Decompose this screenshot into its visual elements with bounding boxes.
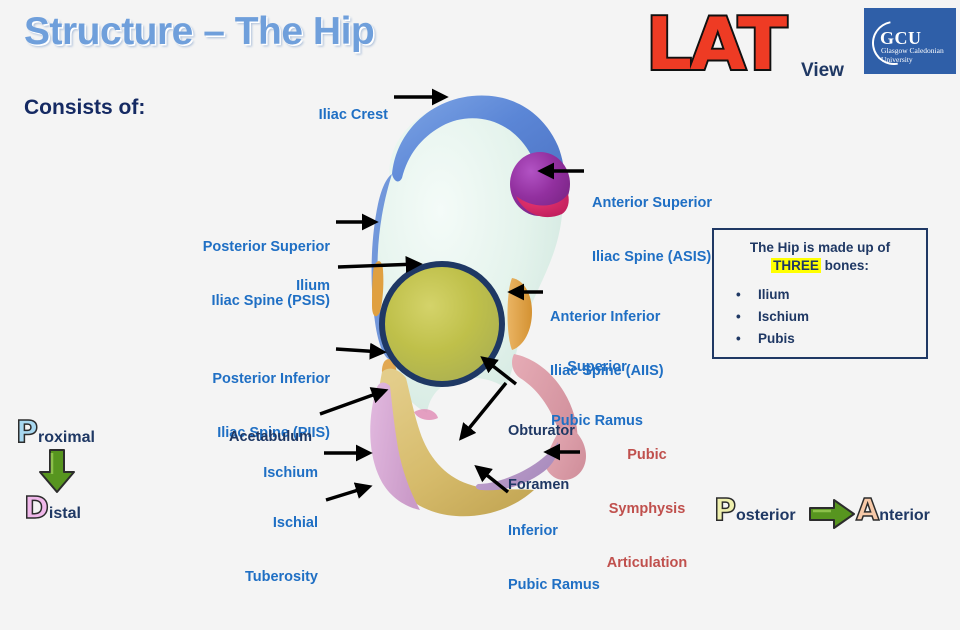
label-spr-line1: Superior bbox=[522, 358, 672, 376]
label-ischial-tuberosity: Ischial Tuberosity bbox=[180, 478, 318, 622]
label-iliac-crest: Iliac Crest bbox=[238, 88, 388, 142]
proximal-initial: P bbox=[16, 415, 38, 450]
label-ilium: Ilium bbox=[230, 259, 330, 313]
label-psis-line1: Posterior Superior bbox=[150, 238, 330, 256]
gcu-logo: GCU Glasgow Caledonian University bbox=[864, 8, 956, 74]
lat-logo-text: LAT bbox=[646, 2, 785, 86]
label-asis-line1: Anterior Superior bbox=[592, 194, 782, 212]
label-asis-line2: Iliac Spine (ASIS) bbox=[592, 248, 782, 266]
posterior-key: Posterior bbox=[714, 496, 796, 526]
list-item: Ischium bbox=[736, 306, 926, 328]
posterior-initial: P bbox=[714, 493, 736, 528]
label-inferior-pubic-ramus: Inferior Pubic Ramus bbox=[508, 486, 658, 630]
label-ipr-line2: Pubic Ramus bbox=[508, 576, 658, 594]
lat-view-logo: LAT LAT View bbox=[646, 4, 846, 88]
posterior-rest: osterior bbox=[736, 507, 796, 524]
lat-logo-view-label: View bbox=[801, 60, 844, 82]
consists-of-heading: Consists of: bbox=[24, 96, 145, 120]
anterior-rest: nterior bbox=[879, 507, 930, 524]
distal-initial: D bbox=[24, 491, 49, 526]
proximal-key: Proximal bbox=[16, 418, 95, 448]
proximal-distal-key: Proximal Distal bbox=[14, 418, 110, 530]
label-ischial-tub-line2: Tuberosity bbox=[180, 568, 318, 586]
distal-rest: istal bbox=[49, 505, 81, 522]
info-box-heading-suffix: bones: bbox=[821, 258, 869, 273]
label-iliac-crest-text: Iliac Crest bbox=[319, 107, 388, 123]
anterior-key: Anterior bbox=[856, 496, 930, 526]
label-ischial-tub-line1: Ischial bbox=[180, 514, 318, 532]
distal-key: Distal bbox=[24, 494, 81, 524]
right-arrow-icon bbox=[808, 498, 856, 530]
label-piis-line1: Posterior Inferior bbox=[152, 370, 330, 388]
label-acetabulum-text: Acetabulum bbox=[229, 429, 312, 445]
page-title: Structure – The Hip bbox=[24, 10, 374, 54]
slide-canvas: Structure – The Hip Consists of: LAT LAT… bbox=[0, 0, 960, 540]
label-ipr-line1: Inferior bbox=[508, 522, 658, 540]
label-ilium-text: Ilium bbox=[296, 278, 330, 294]
anterior-initial: A bbox=[856, 493, 879, 528]
list-item: Pubis bbox=[736, 328, 926, 350]
label-symphysis-line1: Pubic bbox=[588, 446, 706, 464]
gcu-university-name: Glasgow Caledonian University bbox=[881, 47, 947, 64]
down-arrow-icon bbox=[36, 448, 78, 494]
posterior-anterior-key: Posterior Anterior bbox=[714, 492, 948, 532]
proximal-rest: roximal bbox=[38, 429, 95, 446]
